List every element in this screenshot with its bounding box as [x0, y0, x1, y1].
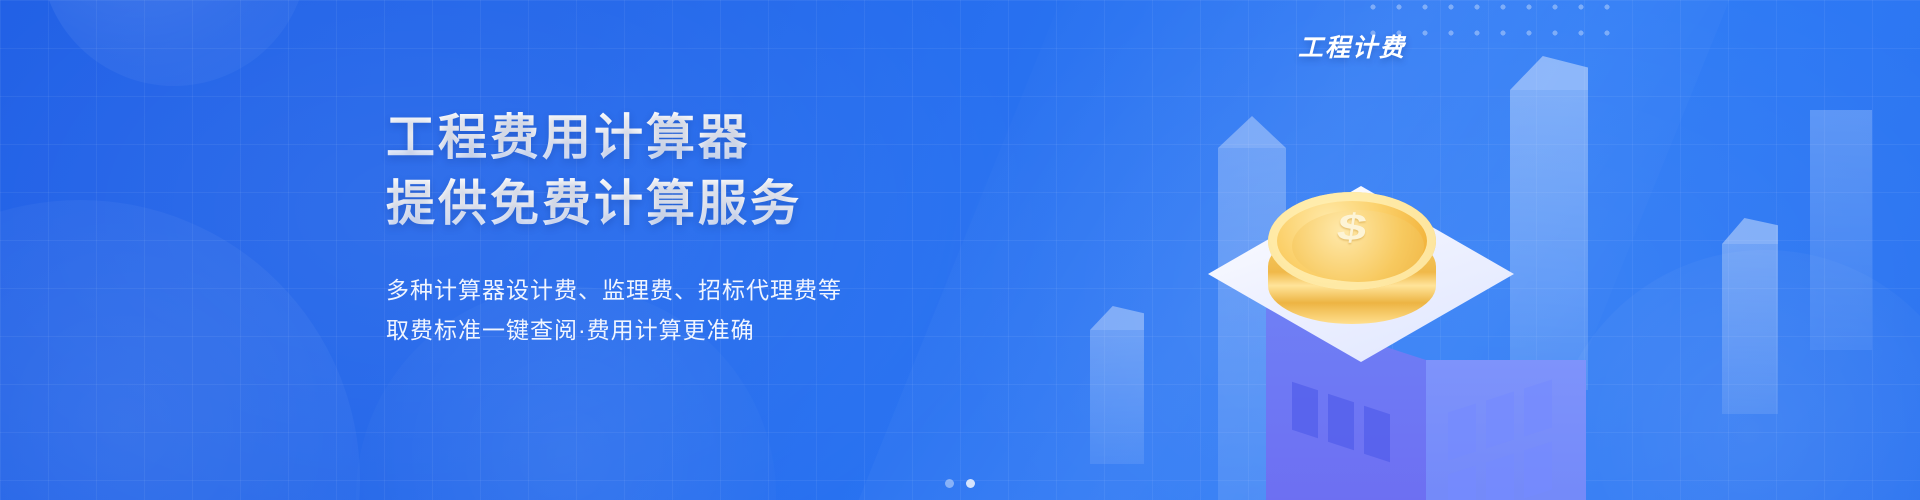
banner-illustration: $ 工程计费 — [1090, 0, 1920, 500]
carousel-dot-1[interactable] — [945, 479, 954, 488]
building-far-left — [1090, 330, 1144, 464]
building-right-roof — [1722, 218, 1778, 244]
window-left-3 — [1364, 406, 1390, 462]
window-right-3 — [1524, 379, 1552, 436]
carousel-pagination[interactable] — [0, 479, 1920, 488]
banner-headline-line1: 工程费用计算器 — [386, 108, 1006, 168]
coin-top: $ — [1268, 192, 1436, 290]
window-right-6 — [1524, 441, 1552, 498]
carousel-dot-2[interactable] — [966, 479, 975, 488]
window-right-1 — [1448, 403, 1476, 460]
building-far-left-roof — [1090, 306, 1144, 330]
hero-banner: 工程费用计算器 提供免费计算服务 多种计算器设计费、监理费、招标代理费等 取费标… — [0, 0, 1920, 500]
banner-headline-line2: 提供免费计算服务 — [386, 174, 1006, 234]
building-far-right — [1810, 110, 1872, 350]
window-left-1 — [1292, 382, 1318, 438]
decorative-circle-top-left — [40, 0, 308, 86]
window-right-2 — [1486, 391, 1514, 448]
banner-description-line1: 多种计算器设计费、监理费、招标代理费等 — [386, 270, 1006, 310]
building-right — [1722, 244, 1778, 414]
gold-coin-icon: $ — [1262, 188, 1442, 338]
window-left-2 — [1328, 394, 1354, 450]
building-left-roof — [1218, 116, 1286, 148]
decorative-circle-left — [0, 200, 360, 500]
banner-description-line2: 取费标准一键查阅·费用计算更准确 — [386, 310, 1006, 350]
building-tall-center-roof — [1510, 56, 1588, 90]
banner-copy-block: 工程费用计算器 提供免费计算服务 多种计算器设计费、监理费、招标代理费等 取费标… — [386, 108, 1006, 350]
illustration-label: 工程计费 — [1298, 28, 1406, 64]
dollar-sign-icon: $ — [1265, 209, 1438, 246]
window-right-5 — [1486, 453, 1514, 500]
